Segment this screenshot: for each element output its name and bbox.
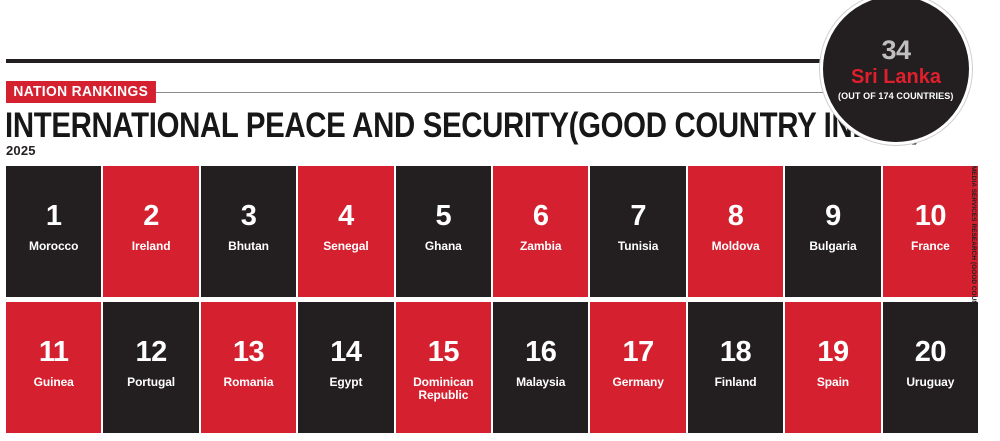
tile-rank: 5 bbox=[436, 202, 452, 231]
tile-rank: 6 bbox=[533, 202, 549, 231]
tile-country-name: Bhutan bbox=[225, 240, 272, 253]
ranking-tile: 9Bulgaria bbox=[785, 166, 880, 297]
tile-rank: 10 bbox=[915, 202, 946, 231]
tile-rank: 16 bbox=[525, 338, 556, 367]
page-title: INTERNATIONAL PEACE AND SECURITY(GOOD CO… bbox=[5, 108, 921, 145]
infographic-page: NATION RANKINGS INTERNATIONAL PEACE AND … bbox=[0, 0, 1000, 441]
ranking-tile: 15Dominican Republic bbox=[396, 302, 491, 433]
tile-rank: 7 bbox=[630, 202, 646, 231]
ranking-row-1: 1Morocco2Ireland3Bhutan4Senegal5Ghana6Za… bbox=[6, 166, 978, 297]
ranking-row-2: 11Guinea12Portugal13Romania14Egypt15Domi… bbox=[6, 302, 978, 433]
tile-country-name: Portugal bbox=[124, 376, 178, 389]
tile-rank: 4 bbox=[338, 202, 354, 231]
tile-country-name: France bbox=[908, 240, 953, 253]
tile-rank: 18 bbox=[720, 338, 751, 367]
tile-rank: 3 bbox=[241, 202, 257, 231]
ranking-tile: 3Bhutan bbox=[201, 166, 296, 297]
tile-country-name: Malaysia bbox=[513, 376, 568, 389]
tile-rank: 2 bbox=[143, 202, 159, 231]
tile-country-name: Germany bbox=[609, 376, 666, 389]
ranking-tile: 16Malaysia bbox=[493, 302, 588, 433]
ranking-tile: 4Senegal bbox=[298, 166, 393, 297]
ranking-tile: 1Morocco bbox=[6, 166, 101, 297]
ranking-tile: 7Tunisia bbox=[590, 166, 685, 297]
ranking-tile: 13Romania bbox=[201, 302, 296, 433]
ranking-tile: 17Germany bbox=[590, 302, 685, 433]
tile-rank: 13 bbox=[233, 338, 264, 367]
highlight-badge: 34 Sri Lanka (OUT OF 174 COUNTRIES) bbox=[820, 12, 972, 126]
ranking-tile: 19Spain bbox=[785, 302, 880, 433]
tile-rank: 1 bbox=[46, 202, 62, 231]
tile-rank: 20 bbox=[915, 338, 946, 367]
tile-rank: 9 bbox=[825, 202, 841, 231]
tile-country-name: Moldova bbox=[709, 240, 763, 253]
kicker-label: NATION RANKINGS bbox=[6, 81, 156, 103]
tile-country-name: Morocco bbox=[26, 240, 81, 253]
source-credit: MEDIA SERVICES RESEARCH (GOOD COUNTRY IN… bbox=[966, 166, 980, 297]
ranking-tile: 2Ireland bbox=[103, 166, 198, 297]
ranking-grid: 1Morocco2Ireland3Bhutan4Senegal5Ghana6Za… bbox=[6, 166, 978, 433]
tile-country-name: Tunisia bbox=[615, 240, 661, 253]
tile-rank: 17 bbox=[623, 338, 654, 367]
kicker-rule bbox=[152, 92, 872, 93]
tile-country-name: Senegal bbox=[320, 240, 371, 253]
tile-rank: 12 bbox=[135, 338, 166, 367]
tile-rank: 14 bbox=[330, 338, 361, 367]
tile-country-name: Uruguay bbox=[903, 376, 957, 389]
ranking-tile: 11Guinea bbox=[6, 302, 101, 433]
ranking-tile: 14Egypt bbox=[298, 302, 393, 433]
tile-rank: 15 bbox=[428, 338, 459, 367]
tile-country-name: Dominican Republic bbox=[396, 376, 491, 403]
badge-total-note: (OUT OF 174 COUNTRIES) bbox=[838, 92, 953, 102]
tile-country-name: Zambia bbox=[517, 240, 564, 253]
tile-country-name: Guinea bbox=[31, 376, 77, 389]
ranking-tile: 12Portugal bbox=[103, 302, 198, 433]
badge-rank: 34 bbox=[881, 37, 910, 64]
tile-country-name: Spain bbox=[814, 376, 852, 389]
badge-circle: 34 Sri Lanka (OUT OF 174 COUNTRIES) bbox=[820, 0, 972, 145]
year-label: 2025 bbox=[6, 144, 36, 157]
ranking-tile: 5Ghana bbox=[396, 166, 491, 297]
tile-country-name: Ireland bbox=[129, 240, 174, 253]
tile-rank: 8 bbox=[728, 202, 744, 231]
ranking-tile: 6Zambia bbox=[493, 166, 588, 297]
tile-country-name: Ghana bbox=[422, 240, 465, 253]
tile-country-name: Egypt bbox=[327, 376, 366, 389]
ranking-tile: 10France bbox=[883, 166, 978, 297]
tile-rank: 11 bbox=[39, 338, 69, 367]
tile-country-name: Bulgaria bbox=[806, 240, 859, 253]
ranking-tile: 8Moldova bbox=[688, 166, 783, 297]
tile-country-name: Finland bbox=[712, 376, 760, 389]
tile-rank: 19 bbox=[817, 338, 848, 367]
tile-country-name: Romania bbox=[221, 376, 277, 389]
badge-country: Sri Lanka bbox=[851, 67, 941, 87]
top-rule bbox=[6, 59, 872, 63]
ranking-tile: 18Finland bbox=[688, 302, 783, 433]
ranking-tile: 20Uruguay bbox=[883, 302, 978, 433]
